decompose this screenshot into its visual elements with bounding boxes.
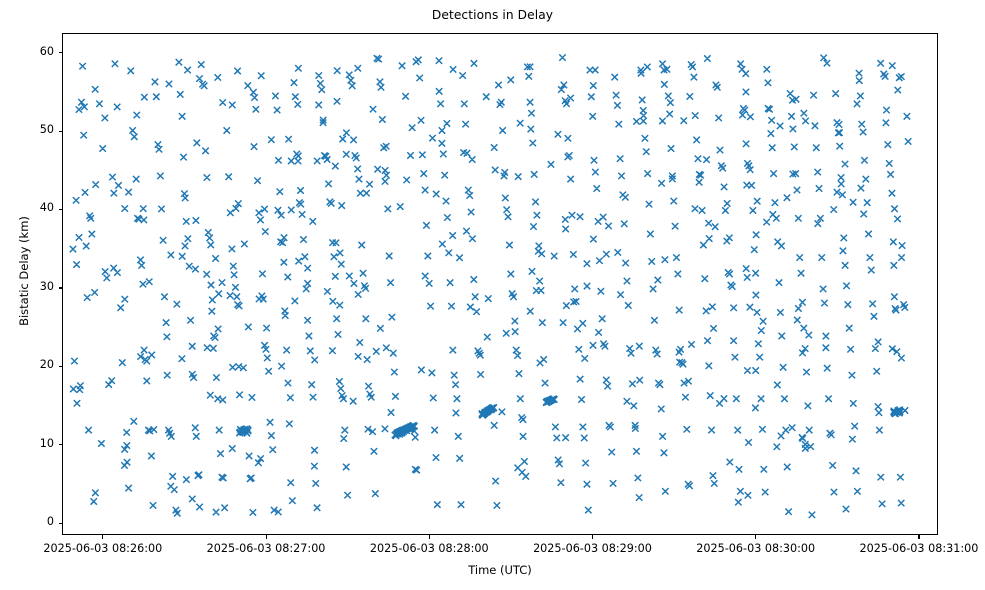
y-tick-label: 10 — [0, 437, 54, 450]
x-tick-mark — [755, 535, 756, 539]
scatter-markers — [63, 34, 938, 535]
chart-figure: Detections in Delay Bistatic Delay (km) … — [0, 0, 985, 590]
x-tick-mark — [266, 535, 267, 539]
y-tick-label: 30 — [0, 280, 54, 293]
chart-title: Detections in Delay — [0, 8, 985, 22]
x-tick-label: 2025-06-03 08:28:00 — [349, 542, 509, 555]
y-axis-label: Bistatic Delay (km) — [17, 161, 31, 381]
y-tick-label: 60 — [0, 45, 54, 58]
plot-area — [62, 33, 938, 535]
x-tick-mark — [429, 535, 430, 539]
y-tick-label: 20 — [0, 358, 54, 371]
x-tick-label: 2025-06-03 08:26:00 — [23, 542, 183, 555]
scatter-point-path — [70, 54, 912, 518]
x-tick-label: 2025-06-03 08:31:00 — [839, 542, 985, 555]
x-axis-label: Time (UTC) — [62, 563, 938, 577]
x-tick-mark — [918, 535, 919, 539]
x-tick-label: 2025-06-03 08:27:00 — [186, 542, 346, 555]
y-tick-label: 50 — [0, 123, 54, 136]
x-tick-mark — [592, 535, 593, 539]
x-tick-mark — [102, 535, 103, 539]
y-tick-label: 0 — [0, 515, 54, 528]
x-tick-label: 2025-06-03 08:30:00 — [676, 542, 836, 555]
chart-title-text: Detections in Delay — [432, 8, 553, 22]
y-tick-label: 40 — [0, 201, 54, 214]
x-tick-label: 2025-06-03 08:29:00 — [512, 542, 672, 555]
